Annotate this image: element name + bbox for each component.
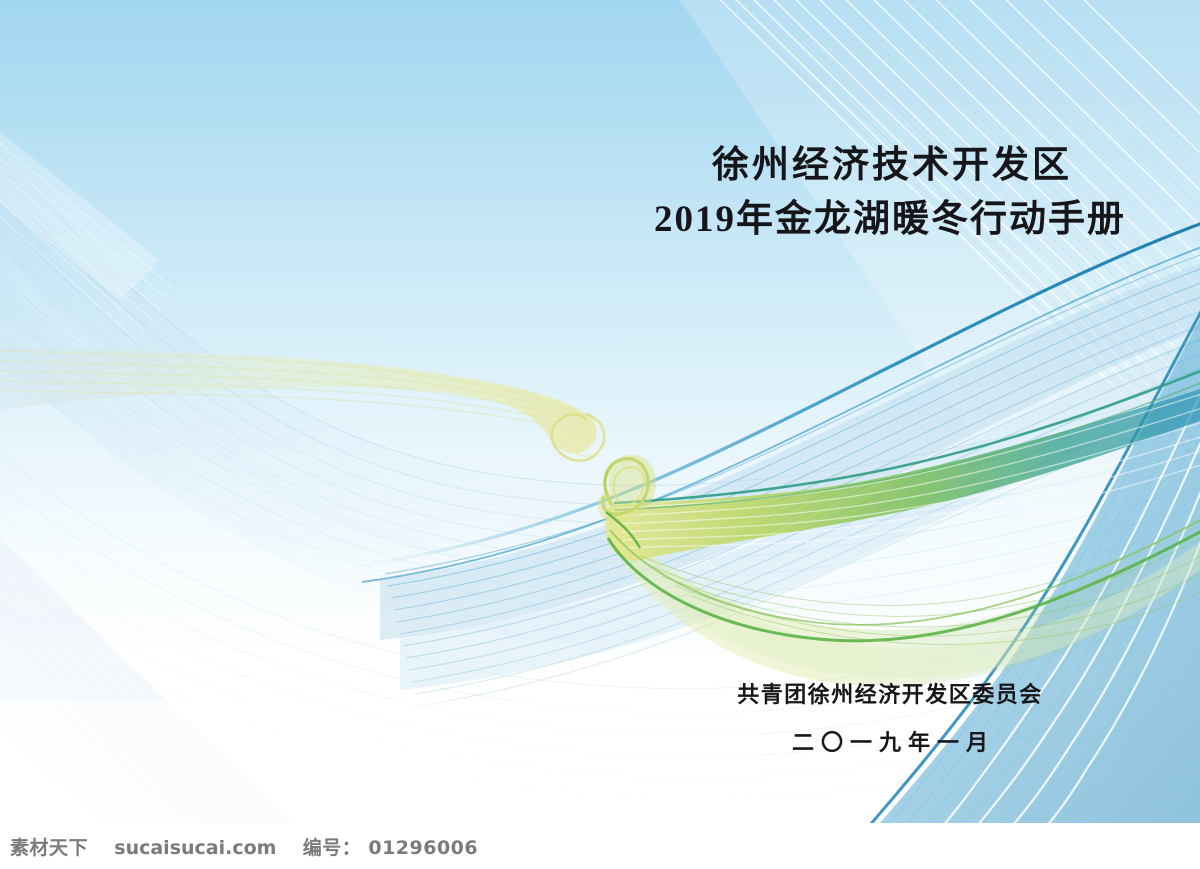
center-green-leaf-ribbon bbox=[598, 352, 1200, 686]
issue-date: 二〇一九年一月 bbox=[600, 710, 1180, 758]
issuer-name: 共青团徐州经济开发区委员会 bbox=[600, 680, 1180, 710]
watermark-id-label: 编号： bbox=[303, 837, 362, 859]
top-right-diagonal-stripes bbox=[680, 0, 1200, 520]
page-title-line-2: 2019年金龙湖暖冬行动手册 bbox=[600, 192, 1180, 248]
top-left-light-streak bbox=[0, 96, 186, 340]
bottom-left-diagonal-band bbox=[0, 500, 340, 869]
upper-yellow-green-ribbon bbox=[0, 345, 605, 461]
watermark-site: sucaisucai.com bbox=[114, 837, 276, 859]
watermark-text: 素材天下 sucaisucai.com 编号： 01296006 bbox=[0, 833, 478, 860]
cover-page: 徐州经济技术开发区 2019年金龙湖暖冬行动手册 共青团徐州经济开发区委员会 二… bbox=[0, 0, 1200, 869]
right-blue-ribbon-bundle bbox=[355, 205, 1200, 706]
issuer-block: 共青团徐州经济开发区委员会 二〇一九年一月 bbox=[600, 680, 1180, 758]
bottom-right-blue-sweep bbox=[832, 280, 1200, 869]
watermark-brand: 素材天下 bbox=[10, 837, 88, 859]
watermark-bar: 素材天下 sucaisucai.com 编号： 01296006 bbox=[0, 823, 1200, 869]
page-title-line-1: 徐州经济技术开发区 bbox=[600, 140, 1180, 192]
watermark-id-value: 01296006 bbox=[368, 837, 478, 859]
cover-title-block: 徐州经济技术开发区 2019年金龙湖暖冬行动手册 bbox=[600, 140, 1180, 248]
